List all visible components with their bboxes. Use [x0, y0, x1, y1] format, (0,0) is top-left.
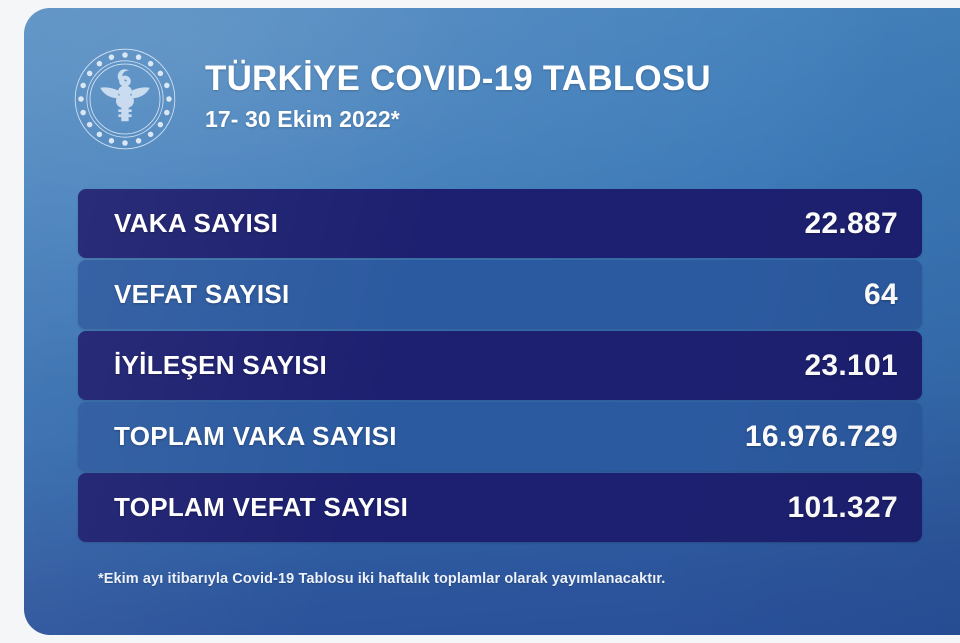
- page-title: TÜRKİYE COVID-19 TABLOSU: [205, 61, 711, 97]
- row-value: 22.887: [804, 207, 898, 241]
- covid-table-infographic: TÜRKİYE COVID-19 TABLOSU 17- 30 Ekim 202…: [0, 0, 960, 643]
- row-label: TOPLAM VEFAT SAYISI: [114, 492, 408, 523]
- table-row-iyilesen-sayisi: İYİLEŞEN SAYISI 23.101: [78, 331, 922, 400]
- info-card: TÜRKİYE COVID-19 TABLOSU 17- 30 Ekim 202…: [24, 8, 960, 635]
- table-row-toplam-vefat-sayisi: TOPLAM VEFAT SAYISI 101.327: [78, 473, 922, 542]
- row-value: 101.327: [787, 491, 898, 525]
- turkish-ministry-of-health-emblem-icon: [72, 46, 178, 152]
- date-range-subtitle: 17- 30 Ekim 2022*: [205, 106, 711, 133]
- row-label: VAKA SAYISI: [114, 208, 278, 239]
- row-label: VEFAT SAYISI: [114, 279, 290, 310]
- row-label: TOPLAM VAKA SAYISI: [114, 421, 397, 452]
- stats-table: VAKA SAYISI 22.887 VEFAT SAYISI 64 İYİLE…: [78, 189, 922, 544]
- row-value: 23.101: [804, 349, 898, 383]
- table-row-vefat-sayisi: VEFAT SAYISI 64: [78, 260, 922, 329]
- row-label: İYİLEŞEN SAYISI: [114, 350, 327, 381]
- card-header: TÜRKİYE COVID-19 TABLOSU 17- 30 Ekim 202…: [72, 46, 711, 152]
- row-value: 16.976.729: [745, 420, 898, 454]
- title-block: TÜRKİYE COVID-19 TABLOSU 17- 30 Ekim 202…: [205, 61, 711, 137]
- footnote-text: *Ekim ayı itibarıyla Covid-19 Tablosu ik…: [98, 571, 665, 587]
- table-row-vaka-sayisi: VAKA SAYISI 22.887: [78, 189, 922, 258]
- table-row-toplam-vaka-sayisi: TOPLAM VAKA SAYISI 16.976.729: [78, 402, 922, 471]
- row-value: 64: [864, 278, 898, 312]
